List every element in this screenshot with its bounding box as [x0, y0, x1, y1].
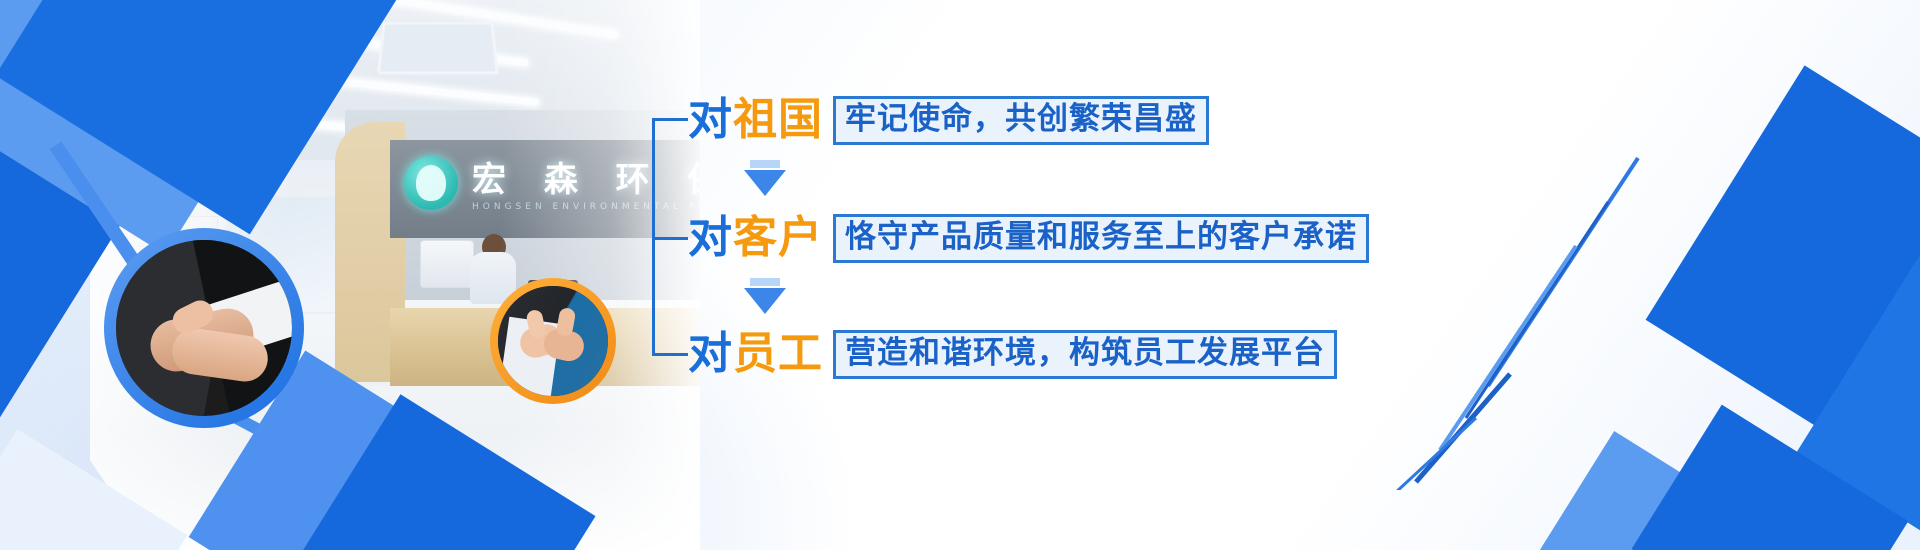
row-customer-statement: 恪守产品质量和服务至上的客户承诺: [833, 214, 1369, 263]
row-country-lead-blue: 对: [688, 94, 733, 145]
handshake-photo: [116, 240, 292, 416]
value-row-customer: 对客户 恪守产品质量和服务至上的客户承诺: [688, 214, 1369, 263]
company-values-banner: 宏 森 环 保 HONGSEN ENVIRONMENTAL PROTECTION: [0, 0, 1920, 550]
row-employee-lead-blue: 对: [688, 328, 733, 379]
row-employee-lead: 对员工: [688, 332, 823, 376]
row-country-lead: 对祖国: [688, 98, 823, 142]
row-customer-lead: 对客户: [688, 216, 823, 260]
value-row-employee: 对员工 营造和谐环境，构筑员工发展平台: [688, 330, 1337, 379]
row-country-lead-orange: 祖国: [733, 94, 823, 145]
down-arrow-1: [744, 170, 786, 196]
decor-thin-lines: [1380, 150, 1680, 490]
down-arrow-2-cap: [750, 278, 780, 286]
row-country-statement: 牢记使命，共创繁荣昌盛: [833, 96, 1209, 145]
row-customer-lead-orange: 客户: [733, 212, 823, 263]
value-row-country: 对祖国 牢记使命，共创繁荣昌盛: [688, 96, 1209, 145]
bracket-tick-2: [652, 237, 688, 240]
down-arrow-2: [744, 288, 786, 314]
down-arrow-1-cap: [750, 160, 780, 168]
row-employee-statement: 营造和谐环境，构筑员工发展平台: [833, 330, 1337, 379]
thumbs-up-photo: [498, 286, 608, 396]
row-customer-lead-blue: 对: [688, 212, 733, 263]
bracket-tick-1: [652, 118, 688, 121]
row-employee-lead-orange: 员工: [733, 328, 823, 379]
bracket-tick-3: [652, 353, 688, 356]
